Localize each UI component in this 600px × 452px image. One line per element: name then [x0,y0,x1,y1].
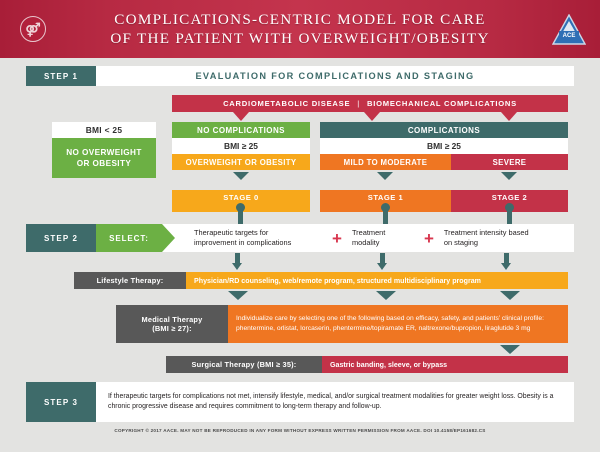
cardiometabolic-disease-label: CARDIOMETABOLIC DISEASE [223,99,350,108]
red-arrow-to-severe [501,112,517,121]
no-overweight-line-1: NO OVERWEIGHT [66,147,142,158]
page-title: COMPLICATIONS-CENTRIC MODEL FOR CARE OF … [110,10,489,48]
bmi-ge-25-no-complications: BMI ≥ 25 [172,138,310,154]
therapeutic-targets-line-2: improvement in complications [194,238,322,248]
stage-0-connector-stem [238,209,243,225]
therapeutic-targets-item: Therapeutic targets for improvement in c… [194,228,322,248]
step-1-bar: STEP 1 EVALUATION FOR COMPLICATIONS AND … [26,66,574,86]
arrow-down-modality [377,253,388,270]
treatment-intensity-line-2: on staging [444,238,574,248]
arrow-lifestyle-to-medical-2 [376,291,396,300]
ace-triangle-icon: ACE [552,14,586,45]
surgical-therapy-label: Surgical Therapy (BMI ≥ 35): [166,356,322,373]
step-3-text: If therapeutic targets for complications… [96,382,574,422]
step-2-item-list: Therapeutic targets for improvement in c… [162,224,574,252]
complications-header: COMPLICATIONS [320,122,568,138]
step-3-chip: STEP 3 [26,382,96,422]
medical-therapy-text: Individualize care by selecting one of t… [236,314,560,333]
arrow-down-intensity [501,253,512,270]
plus-icon-1: + [332,230,342,247]
arrow-lifestyle-to-medical-1 [228,291,248,300]
severe-block: SEVERE [451,154,568,170]
bmi-ge-25-complications: BMI ≥ 25 [320,138,568,154]
teal-arrow-to-stage-0 [233,172,249,180]
plus-icon-2: + [424,230,434,247]
stage-0-label: STAGE 0 [223,193,258,202]
infographic-poster: ⚤ COMPLICATIONS-CENTRIC MODEL FOR CARE O… [0,0,600,452]
medical-therapy-label-line-1: Medical Therapy [142,315,203,325]
medical-therapy-label: Medical Therapy (BMI ≥ 27): [116,305,228,343]
biomechanical-complications-label: BIOMECHANICAL COMPLICATIONS [367,99,517,108]
arrow-down-targets [232,253,243,270]
step-1-chip: STEP 1 [26,66,96,86]
stage-1-connector-stem [383,209,388,225]
page-title-line-2: OF THE PATIENT WITH OVERWEIGHT/OBESITY [110,29,489,48]
cardio-bar-separator: | [350,99,367,108]
poster-header: ⚤ COMPLICATIONS-CENTRIC MODEL FOR CARE O… [0,0,600,58]
overweight-or-obesity-block: OVERWEIGHT OR OBESITY [172,154,310,170]
red-arrow-to-no-complications [233,112,249,121]
treatment-modality-line-2: modality [352,238,414,248]
stage-1-label: STAGE 1 [368,193,403,202]
aace-seal-glyph: ⚤ [25,23,40,36]
medical-therapy-label-line-2: (BMI ≥ 27): [142,324,203,334]
step-1-title: EVALUATION FOR COMPLICATIONS AND STAGING [96,71,574,81]
lifestyle-therapy-body: Physician/RD counseling, web/remote prog… [186,272,568,289]
page-title-line-1: COMPLICATIONS-CENTRIC MODEL FOR CARE [110,10,489,29]
no-overweight-line-2: OR OBESITY [66,158,142,169]
teal-arrow-to-stage-2 [501,172,517,180]
mild-to-moderate-block: MILD TO MODERATE [320,154,451,170]
aace-seal-logo: ⚤ [20,16,46,42]
treatment-intensity-line-1: Treatment intensity based [444,228,574,238]
treatment-modality-item: Treatment modality [352,228,414,248]
arrow-lifestyle-to-medical-3 [500,291,520,300]
treatment-intensity-item: Treatment intensity based on staging [444,228,574,248]
step-3-bar: STEP 3 If therapeutic targets for compli… [26,382,574,422]
no-complications-header: NO COMPLICATIONS [172,122,310,138]
stage-2-connector-stem [507,209,512,225]
select-chevron-chip: SELECT: [96,224,162,252]
step-2-bar: STEP 2 SELECT: Therapeutic targets for i… [26,224,574,252]
red-arrow-to-mild-moderate [364,112,380,121]
therapeutic-targets-line-1: Therapeutic targets for [194,228,322,238]
svg-text:ACE: ACE [563,33,576,39]
bmi-under-25-label: BMI < 25 [52,122,156,138]
ace-triangle-logo: ACE [552,13,586,45]
cardiometabolic-biomechanical-bar: CARDIOMETABOLIC DISEASE | BIOMECHANICAL … [172,95,568,112]
copyright-notice: COPYRIGHT © 2017 AACE. MAY NOT BE REPROD… [0,428,600,433]
medical-therapy-body: Individualize care by selecting one of t… [228,305,568,343]
treatment-modality-line-1: Treatment [352,228,414,238]
no-overweight-or-obesity-block: NO OVERWEIGHT OR OBESITY [52,138,156,178]
teal-arrow-to-stage-1 [377,172,393,180]
lifestyle-therapy-label: Lifestyle Therapy: [74,272,186,289]
surgical-therapy-body: Gastric banding, sleeve, or bypass [322,356,568,373]
stage-2-label: STAGE 2 [492,193,527,202]
arrow-medical-to-surgical [500,345,520,354]
step-2-chip: STEP 2 [26,224,96,252]
